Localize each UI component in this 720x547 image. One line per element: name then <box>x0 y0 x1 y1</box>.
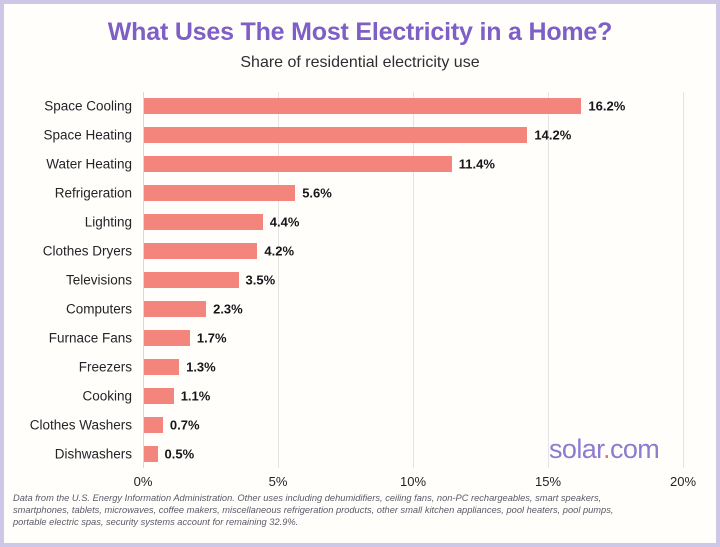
bar[interactable] <box>144 272 239 288</box>
bar[interactable] <box>144 301 206 317</box>
logo-dot: . <box>603 434 610 464</box>
bar-row: Computers2.3% <box>143 294 683 323</box>
x-tick-label: 20% <box>670 474 696 489</box>
logo-word: solar <box>549 434 603 464</box>
bar[interactable] <box>144 185 295 201</box>
category-label: Televisions <box>4 272 132 287</box>
bar[interactable] <box>144 127 527 143</box>
x-tick-label: 5% <box>269 474 288 489</box>
bar-row: Refrigeration5.6% <box>143 179 683 208</box>
logo-tld: com <box>610 434 659 464</box>
bar-value-label: 4.2% <box>264 244 294 259</box>
gridline-20 <box>683 92 684 468</box>
bar-value-label: 1.7% <box>197 330 227 345</box>
chart-canvas: What Uses The Most Electricity in a Home… <box>4 4 716 543</box>
category-label: Water Heating <box>4 157 132 172</box>
chart-title: What Uses The Most Electricity in a Home… <box>4 18 716 47</box>
category-label: Dishwashers <box>4 446 132 461</box>
bar-row: Space Cooling16.2% <box>143 92 683 121</box>
bar-value-label: 0.7% <box>170 417 200 432</box>
bar[interactable] <box>144 388 174 404</box>
bar[interactable] <box>144 359 179 375</box>
footnote: Data from the U.S. Energy Information Ad… <box>13 492 713 529</box>
bar-row: Water Heating11.4% <box>143 150 683 179</box>
bar-value-label: 16.2% <box>588 99 625 114</box>
bar-row: Cooking1.1% <box>143 381 683 410</box>
bar-value-label: 1.1% <box>181 388 211 403</box>
category-label: Refrigeration <box>4 186 132 201</box>
bar-value-label: 0.5% <box>165 446 195 461</box>
bar-row: Lighting4.4% <box>143 208 683 237</box>
category-label: Lighting <box>4 215 132 230</box>
bar-row: Clothes Dryers4.2% <box>143 237 683 266</box>
x-tick-label: 15% <box>535 474 561 489</box>
bar[interactable] <box>144 330 190 346</box>
footnote-line-2: smartphones, tablets, microwaves, coffee… <box>13 504 713 516</box>
category-label: Freezers <box>4 359 132 374</box>
chart-subtitle: Share of residential electricity use <box>4 54 716 72</box>
category-label: Space Cooling <box>4 99 132 114</box>
bar[interactable] <box>144 98 581 114</box>
category-label: Space Heating <box>4 128 132 143</box>
category-label: Cooking <box>4 388 132 403</box>
bar-value-label: 5.6% <box>302 186 332 201</box>
bar-row: Furnace Fans1.7% <box>143 323 683 352</box>
plot-area: Space Cooling16.2%Space Heating14.2%Wate… <box>143 92 683 468</box>
bar-value-label: 3.5% <box>246 272 276 287</box>
category-label: Computers <box>4 301 132 316</box>
bar-row: Televisions3.5% <box>143 266 683 295</box>
category-label: Clothes Washers <box>4 417 132 432</box>
category-label: Clothes Dryers <box>4 244 132 259</box>
solar-com-logo[interactable]: solar.com <box>549 434 659 465</box>
bar[interactable] <box>144 417 163 433</box>
bar[interactable] <box>144 446 158 462</box>
bar-row: Freezers1.3% <box>143 352 683 381</box>
bar-value-label: 2.3% <box>213 301 243 316</box>
x-tick-label: 0% <box>134 474 153 489</box>
bar-value-label: 14.2% <box>534 128 571 143</box>
bar-value-label: 4.4% <box>270 215 300 230</box>
footnote-line-1: Data from the U.S. Energy Information Ad… <box>13 492 713 504</box>
footnote-line-3: portable electric spas, security systems… <box>13 516 713 528</box>
bar[interactable] <box>144 243 257 259</box>
bar-value-label: 1.3% <box>186 359 216 374</box>
category-label: Furnace Fans <box>4 330 132 345</box>
bar[interactable] <box>144 156 452 172</box>
chart-card: What Uses The Most Electricity in a Home… <box>0 0 720 547</box>
x-tick-label: 10% <box>400 474 426 489</box>
bar-value-label: 11.4% <box>459 157 495 172</box>
bar-row: Space Heating14.2% <box>143 121 683 150</box>
bar[interactable] <box>144 214 263 230</box>
